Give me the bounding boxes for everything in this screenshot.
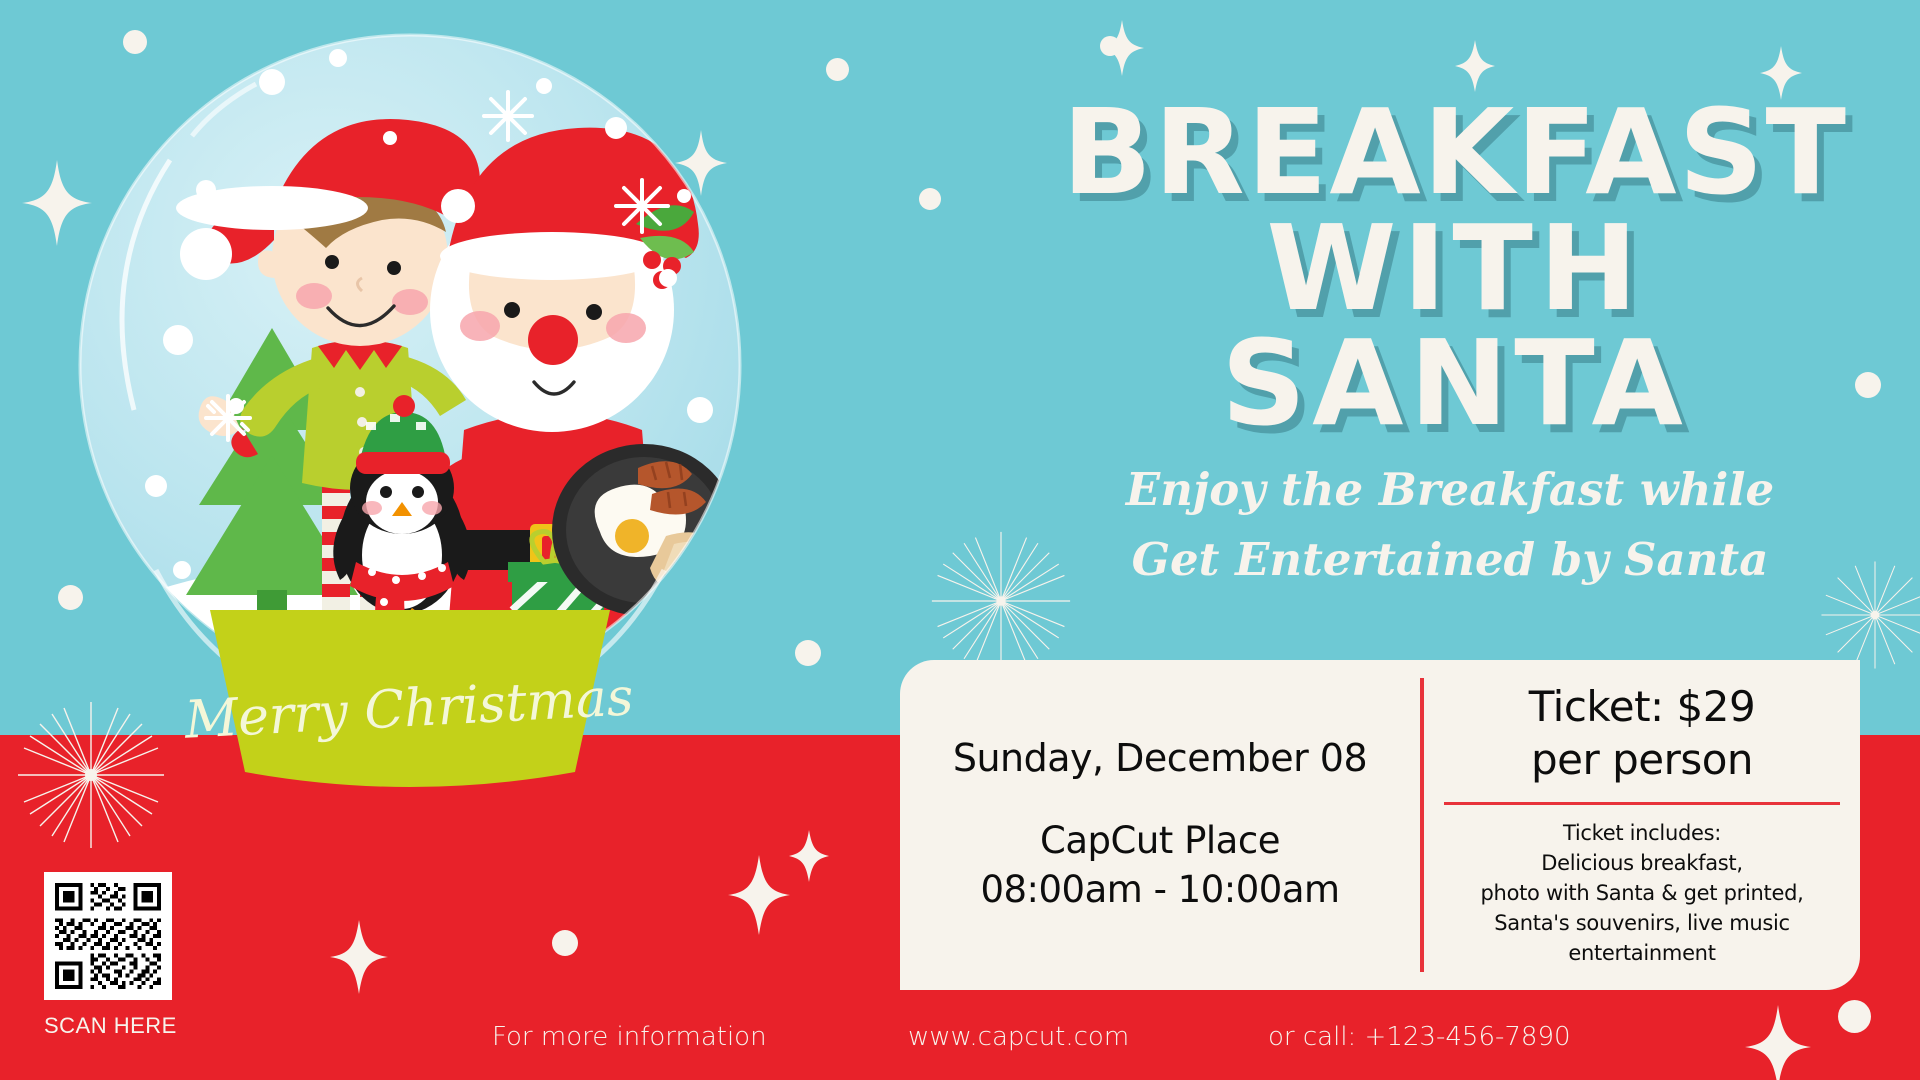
sparkle-icon xyxy=(1100,20,1144,76)
event-venue-time: CapCut Place 08:00am - 10:00am xyxy=(980,816,1339,914)
ticket-price-line-1: Ticket: $29 xyxy=(1529,681,1755,734)
includes-line-2: photo with Santa & get printed, xyxy=(1481,879,1804,909)
footer-website[interactable]: www.capcut.com xyxy=(908,1022,1129,1052)
event-details-card: Sunday, December 08 CapCut Place 08:00am… xyxy=(900,660,1860,990)
decor-dot xyxy=(552,930,578,956)
includes-line-1: Delicious breakfast, xyxy=(1481,849,1804,879)
decor-dot xyxy=(826,58,849,81)
footer-phone[interactable]: or call: +123-456-7890 xyxy=(1268,1022,1571,1052)
poster-canvas: Merry Christmas BREAKFAST WITH SANTA Enj… xyxy=(0,0,1920,1080)
includes-line-4: entertainment xyxy=(1481,939,1804,969)
sparkle-icon xyxy=(789,830,829,882)
qr-code[interactable] xyxy=(44,872,172,1000)
includes-heading: Ticket includes: xyxy=(1481,819,1804,849)
ticket-price-line-2: per person xyxy=(1529,734,1755,787)
page-title: BREAKFAST WITH SANTA xyxy=(1040,95,1870,442)
event-date: Sunday, December 08 xyxy=(953,736,1367,780)
ticket-section: Ticket: $29 per person Ticket includes: … xyxy=(1424,660,1860,990)
snow-globe-illustration: Merry Christmas xyxy=(60,10,760,840)
footer-info-label: For more information xyxy=(492,1022,767,1052)
ticket-horizontal-divider xyxy=(1444,802,1840,805)
sparkle-icon xyxy=(330,920,388,994)
decor-dot xyxy=(795,640,821,666)
sparkle-icon xyxy=(728,855,790,935)
footer-contact-bar: For more information www.capcut.com or c… xyxy=(0,1013,1920,1061)
event-time: 08:00am - 10:00am xyxy=(980,865,1339,914)
event-venue: CapCut Place xyxy=(980,816,1339,865)
page-subtitle: Enjoy the Breakfast while Get Entertaine… xyxy=(1010,455,1890,595)
title-line-2: WITH SANTA xyxy=(1040,211,1870,442)
decor-dot xyxy=(919,188,941,210)
ticket-price: Ticket: $29 per person xyxy=(1529,681,1755,786)
subtitle-line-2: Get Entertained by Santa xyxy=(1010,525,1890,595)
event-schedule-section: Sunday, December 08 CapCut Place 08:00am… xyxy=(900,660,1420,990)
includes-line-3: Santa's souvenirs, live music xyxy=(1481,909,1804,939)
subtitle-line-1: Enjoy the Breakfast while xyxy=(1010,455,1890,525)
ticket-includes: Ticket includes: Delicious breakfast, ph… xyxy=(1481,819,1804,968)
